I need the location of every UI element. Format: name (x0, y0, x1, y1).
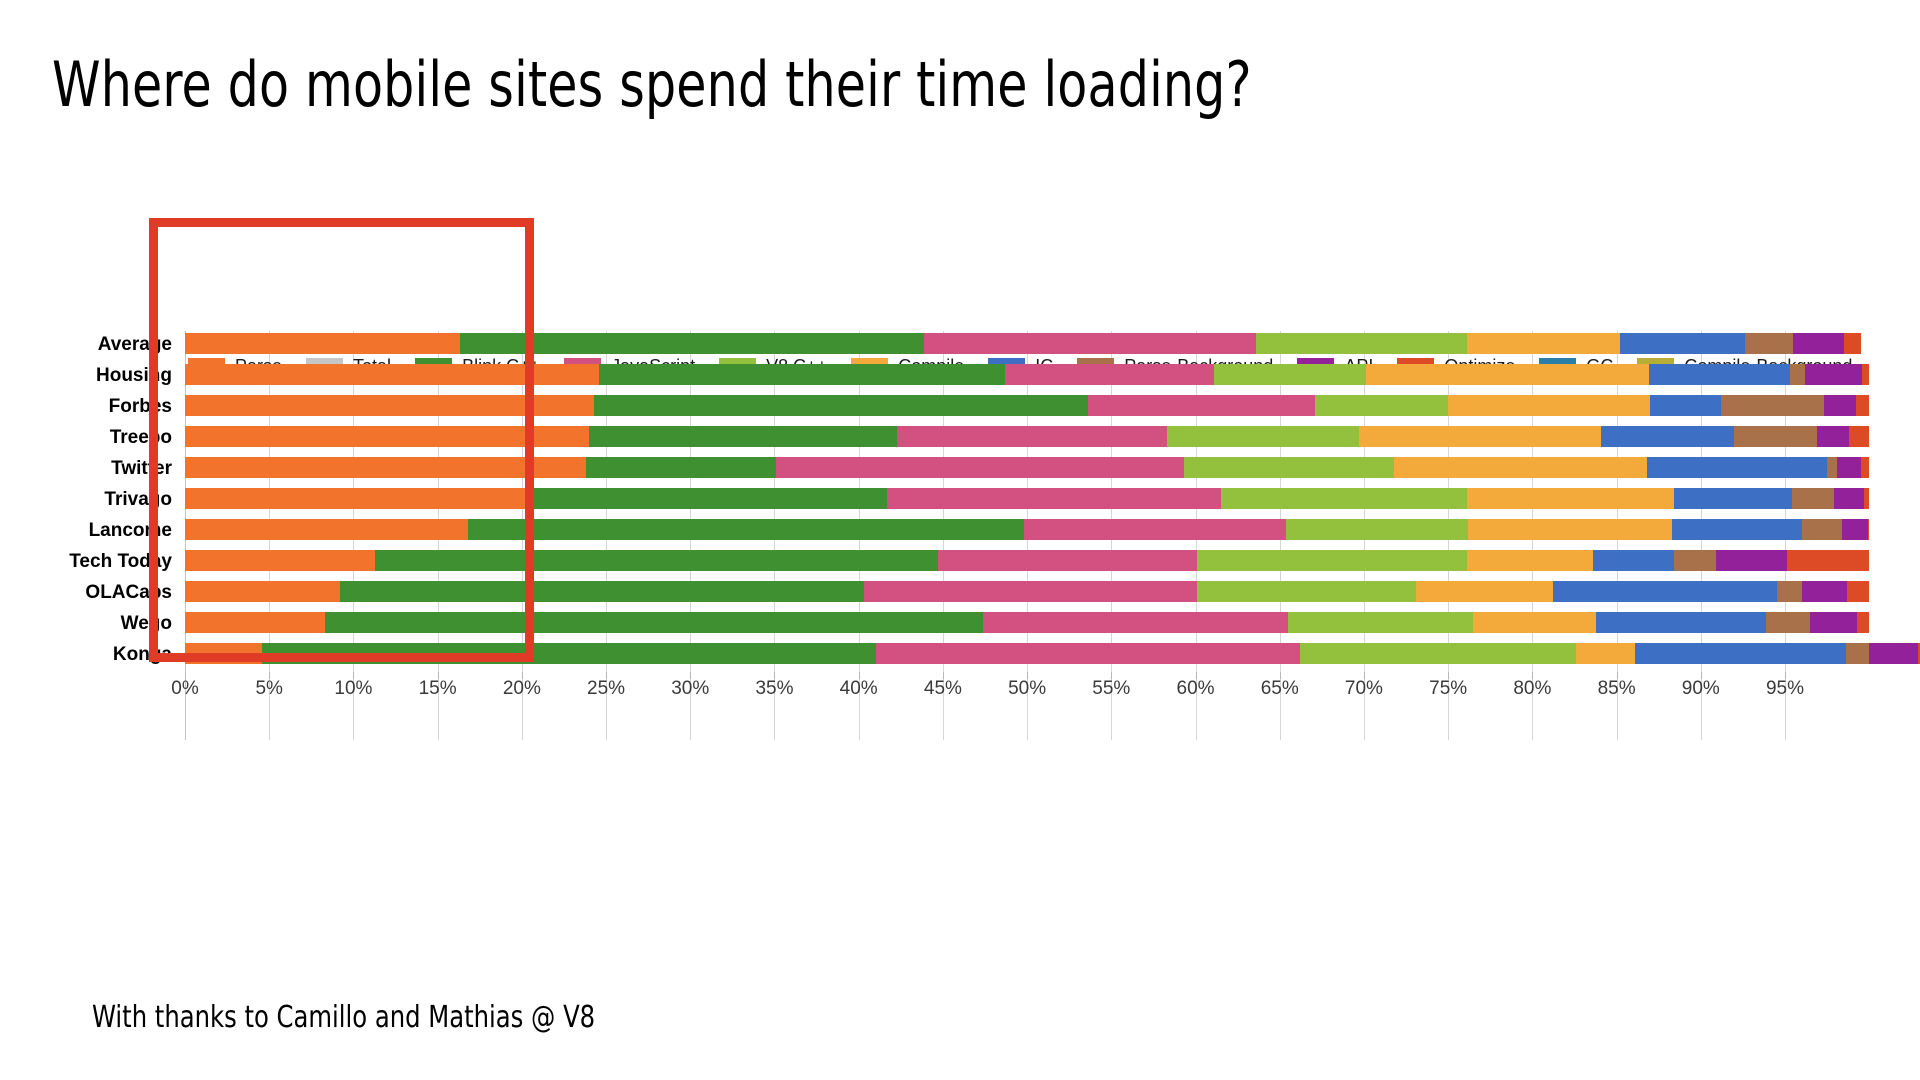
bar-segment-ic[interactable] (1649, 364, 1790, 385)
chart-row: Lancome (0, 517, 1920, 548)
bar-segment-parse[interactable] (185, 612, 325, 633)
bar-segment-blink-c-[interactable] (340, 581, 864, 602)
x-tick-label: 70% (1345, 678, 1383, 700)
bar-segment-parse[interactable] (185, 643, 262, 664)
bar-segment-javascript[interactable] (1005, 364, 1214, 385)
bar-segment-api[interactable] (1810, 612, 1857, 633)
x-tick-label: 80% (1513, 678, 1551, 700)
bar-segment-javascript[interactable] (1024, 519, 1287, 540)
bar-segment-javascript[interactable] (897, 426, 1166, 447)
bar-segment-compile[interactable] (1359, 426, 1602, 447)
page-title: Where do mobile sites spend their time l… (52, 54, 1252, 116)
bar-segment-javascript[interactable] (776, 457, 1184, 478)
x-axis: 0%5%10%15%20%25%30%35%40%45%50%55%60%65%… (0, 678, 1920, 708)
bar-segment-blink-c-[interactable] (586, 457, 776, 478)
chart-row: Trivago (0, 486, 1920, 517)
bar-segment-compile[interactable] (1467, 550, 1593, 571)
stacked-bar (185, 612, 1920, 633)
bar-segment-javascript[interactable] (924, 333, 1256, 354)
bar-segment-ic[interactable] (1593, 550, 1674, 571)
bar-segment-javascript[interactable] (938, 550, 1197, 571)
bar-segment-ic[interactable] (1674, 488, 1792, 509)
bar-segment-javascript[interactable] (864, 581, 1197, 602)
bar-segment-compile[interactable] (1576, 643, 1635, 664)
bar-segment-v8-c-[interactable] (1300, 643, 1576, 664)
bar-segment-parse-background[interactable] (1792, 488, 1834, 509)
chart-row: Forbes (0, 393, 1920, 424)
bar-segment-parse-background[interactable] (1721, 395, 1824, 416)
bar-segment-javascript[interactable] (887, 488, 1220, 509)
bar-segment-optimize[interactable] (1862, 364, 1869, 385)
chart-row: Average (0, 331, 1920, 362)
bar-segment-optimize[interactable] (1849, 426, 1869, 447)
bar-segment-parse[interactable] (185, 364, 599, 385)
stacked-bar (185, 550, 1920, 571)
row-label-lancome: Lancome (0, 520, 172, 542)
stacked-bar-chart: ParseTotalBlink C++JavaScriptV8 C++Compi… (0, 255, 1920, 800)
x-tick-label: 0% (171, 678, 198, 700)
stacked-bar (185, 457, 1920, 478)
bar-segment-blink-c-[interactable] (262, 643, 875, 664)
bar-segment-api[interactable] (1834, 488, 1864, 509)
bar-segment-ic[interactable] (1596, 612, 1766, 633)
bar-segment-ic[interactable] (1620, 333, 1745, 354)
x-tick-label: 35% (755, 678, 793, 700)
row-label-wego: Wego (0, 613, 172, 635)
stacked-bar (185, 519, 1920, 540)
bar-segment-optimize[interactable] (1857, 612, 1869, 633)
bar-segment-parse[interactable] (185, 581, 340, 602)
bar-segment-parse[interactable] (185, 333, 460, 354)
bar-segment-ic[interactable] (1601, 426, 1734, 447)
bar-segment-ic[interactable] (1650, 395, 1721, 416)
row-label-konga: Konga (0, 644, 172, 666)
bar-segment-blink-c-[interactable] (468, 519, 1024, 540)
bar-segment-v8-c-[interactable] (1256, 333, 1467, 354)
bar-segment-compile[interactable] (1394, 457, 1647, 478)
bar-segment-blink-c-[interactable] (599, 364, 1005, 385)
x-tick-label: 50% (1008, 678, 1046, 700)
bar-segment-api[interactable] (1793, 333, 1844, 354)
bar-segment-ic[interactable] (1647, 457, 1827, 478)
bar-segment-parse[interactable] (185, 488, 529, 509)
chart-row: Twitter (0, 455, 1920, 486)
bar-segment-parse-background[interactable] (1777, 581, 1802, 602)
bar-segment-compile[interactable] (1366, 364, 1649, 385)
x-tick-label: 75% (1429, 678, 1467, 700)
bar-segment-api[interactable] (1837, 457, 1861, 478)
chart-row: OLACabs (0, 579, 1920, 610)
bar-segment-ic[interactable] (1635, 643, 1846, 664)
bar-segment-v8-c-[interactable] (1288, 612, 1473, 633)
x-tick-label: 95% (1766, 678, 1804, 700)
bar-segment-parse-background[interactable] (1802, 519, 1842, 540)
bar-segment-optimize[interactable] (1868, 519, 1870, 540)
bar-segment-parse-background[interactable] (1745, 333, 1794, 354)
bar-segment-optimize[interactable] (1844, 333, 1861, 354)
bar-segment-parse[interactable] (185, 395, 594, 416)
row-label-forbes: Forbes (0, 396, 172, 418)
x-tick-label: 40% (840, 678, 878, 700)
bar-segment-parse-background[interactable] (1766, 612, 1810, 633)
x-tick-label: 90% (1682, 678, 1720, 700)
bar-segment-blink-c-[interactable] (529, 488, 888, 509)
x-tick-label: 45% (924, 678, 962, 700)
bar-segment-blink-c-[interactable] (589, 426, 897, 447)
bar-segment-api[interactable] (1817, 426, 1849, 447)
stacked-bar (185, 364, 1920, 385)
bar-segment-parse-background[interactable] (1827, 457, 1837, 478)
bar-segment-ic[interactable] (1672, 519, 1802, 540)
bar-segment-compile[interactable] (1448, 395, 1650, 416)
bar-segment-parse[interactable] (185, 426, 589, 447)
bar-segment-compile[interactable] (1416, 581, 1552, 602)
bar-segment-v8-c-[interactable] (1197, 550, 1466, 571)
bar-segment-compile[interactable] (1467, 333, 1620, 354)
bar-segment-parse[interactable] (185, 519, 468, 540)
bar-segment-v8-c-[interactable] (1197, 581, 1416, 602)
bar-segment-javascript[interactable] (983, 612, 1288, 633)
bar-segment-v8-c-[interactable] (1221, 488, 1467, 509)
bar-segment-javascript[interactable] (876, 643, 1300, 664)
bar-segment-v8-c-[interactable] (1286, 519, 1468, 540)
bar-segment-v8-c-[interactable] (1214, 364, 1366, 385)
x-tick-label: 65% (1261, 678, 1299, 700)
row-label-average: Average (0, 334, 172, 356)
bar-segment-blink-c-[interactable] (325, 612, 984, 633)
bar-segment-v8-c-[interactable] (1167, 426, 1359, 447)
stacked-bar (185, 488, 1920, 509)
chart-row: Tech Today (0, 548, 1920, 579)
chart-row: Treebo (0, 424, 1920, 455)
bar-segment-blink-c-[interactable] (460, 333, 925, 354)
row-label-housing: Housing (0, 365, 172, 387)
bar-segment-compile[interactable] (1468, 519, 1672, 540)
chart-row: Wego (0, 610, 1920, 641)
x-tick-label: 20% (503, 678, 541, 700)
bar-segment-compile[interactable] (1467, 488, 1674, 509)
x-tick-label: 25% (587, 678, 625, 700)
bar-segment-blink-c-[interactable] (594, 395, 1087, 416)
chart-row: Konga (0, 641, 1920, 672)
bar-segment-optimize[interactable] (1861, 457, 1869, 478)
bar-segment-api[interactable] (1716, 550, 1787, 571)
bar-segment-optimize[interactable] (1864, 488, 1869, 509)
x-tick-label: 60% (1177, 678, 1215, 700)
row-label-tech-today: Tech Today (0, 551, 172, 573)
stacked-bar (185, 395, 1920, 416)
x-tick-label: 30% (671, 678, 709, 700)
bar-segment-parse-background[interactable] (1734, 426, 1817, 447)
bar-segment-parse-background[interactable] (1674, 550, 1716, 571)
stacked-bar (185, 581, 1920, 602)
chart-row: Housing (0, 362, 1920, 393)
bar-segment-ic[interactable] (1553, 581, 1777, 602)
bar-segment-v8-c-[interactable] (1184, 457, 1395, 478)
bar-segment-api[interactable] (1842, 519, 1867, 540)
x-tick-label: 10% (334, 678, 372, 700)
row-label-olacabs: OLACabs (0, 582, 172, 604)
x-tick-label: 15% (419, 678, 457, 700)
chart-rows: AverageHousingForbesTreeboTwitterTrivago… (0, 331, 1920, 672)
bar-segment-optimize[interactable] (1856, 395, 1869, 416)
row-label-trivago: Trivago (0, 489, 172, 511)
x-tick-label: 5% (255, 678, 282, 700)
row-label-treebo: Treebo (0, 427, 172, 449)
bar-segment-javascript[interactable] (1088, 395, 1315, 416)
bar-segment-parse-background[interactable] (1846, 643, 1870, 664)
bar-segment-v8-c-[interactable] (1315, 395, 1448, 416)
stacked-bar (185, 426, 1920, 447)
footer-credit: With thanks to Camillo and Mathias @ V8 (92, 1000, 595, 1035)
bar-segment-api[interactable] (1824, 395, 1856, 416)
bar-segment-optimize[interactable] (1847, 581, 1869, 602)
bar-segment-parse-background[interactable] (1790, 364, 1805, 385)
bar-segment-parse[interactable] (185, 550, 375, 571)
bar-segment-optimize[interactable] (1787, 550, 1870, 571)
stacked-bar (185, 333, 1920, 354)
x-tick-label: 85% (1598, 678, 1636, 700)
row-label-twitter: Twitter (0, 458, 172, 480)
bar-segment-api[interactable] (1802, 581, 1847, 602)
bar-segment-parse[interactable] (185, 457, 586, 478)
bar-segment-blink-c-[interactable] (375, 550, 938, 571)
stacked-bar (185, 643, 1920, 664)
bar-segment-compile[interactable] (1473, 612, 1596, 633)
x-tick-label: 55% (1092, 678, 1130, 700)
bar-segment-api[interactable] (1869, 643, 1918, 664)
bar-segment-api[interactable] (1805, 364, 1862, 385)
